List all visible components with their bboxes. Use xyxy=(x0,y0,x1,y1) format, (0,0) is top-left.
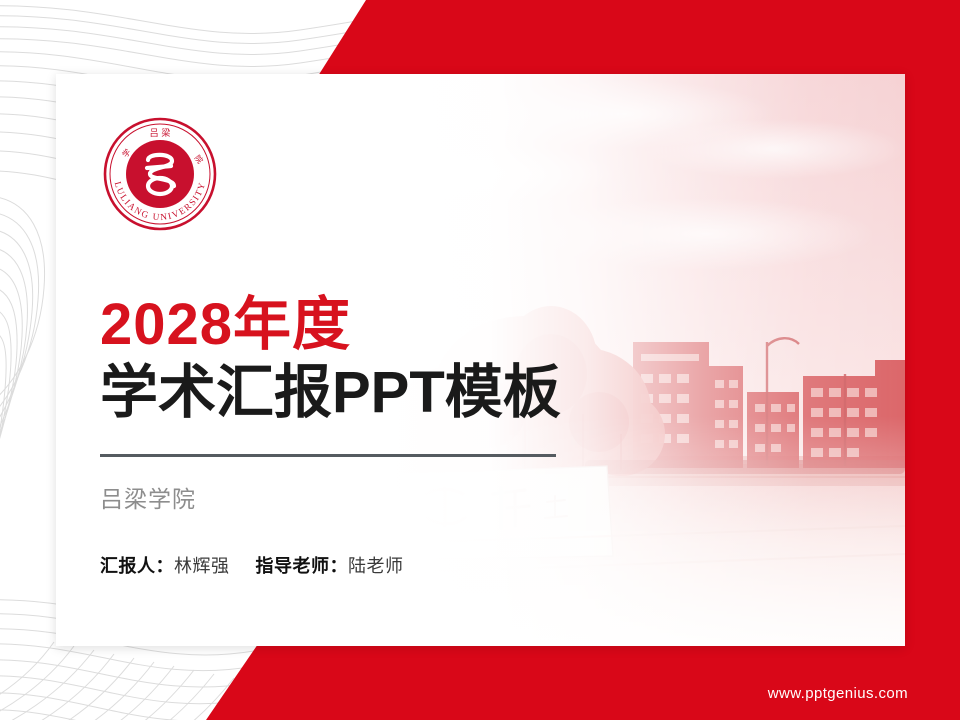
presenter-label: 汇报人： xyxy=(100,556,174,576)
svg-text:吕 梁: 吕 梁 xyxy=(150,127,171,139)
content-card: 吕 梁 学 院 LULIANG UNIVERSITY 2028年 xyxy=(56,74,905,646)
card-content: 吕 梁 学 院 LULIANG UNIVERSITY 2028年 xyxy=(56,74,905,646)
advisor-label: 指导老师： xyxy=(256,556,349,576)
title-year: 2028年度 xyxy=(100,296,351,354)
red-band-right xyxy=(902,0,960,720)
presentation-slide: 吕 梁 学 院 LULIANG UNIVERSITY 2028年 xyxy=(0,0,960,720)
advisor-name: 陆老师 xyxy=(348,556,404,576)
byline: 汇报人：林辉强指导老师：陆老师 xyxy=(100,552,404,578)
luliang-university-logo-icon: 吕 梁 学 院 LULIANG UNIVERSITY xyxy=(102,116,218,232)
school-name: 吕梁学院 xyxy=(100,480,196,514)
presenter-name: 林辉强 xyxy=(174,556,230,576)
title-main: 学术汇报PPT模板 xyxy=(100,364,561,422)
footer-website-url[interactable]: www.pptgenius.com xyxy=(768,685,908,702)
title-divider xyxy=(100,454,556,457)
